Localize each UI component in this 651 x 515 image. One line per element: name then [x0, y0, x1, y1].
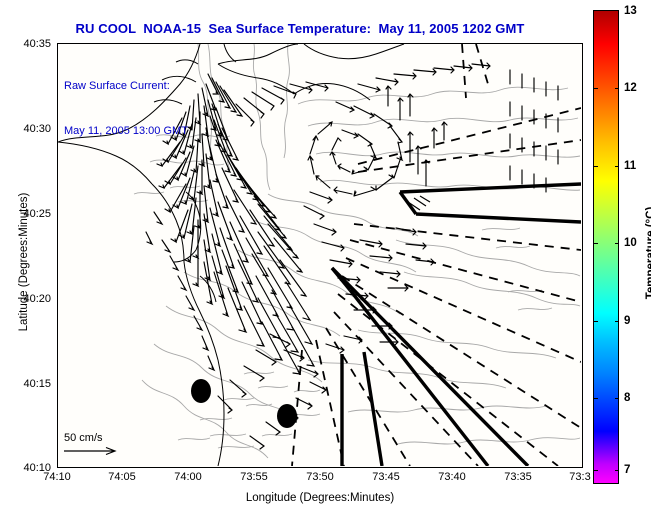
cbar-tick-10: 10 — [624, 237, 637, 249]
colorbar-label: Temperature (°C) — [645, 173, 651, 333]
cbar-tickmark-left-12 — [594, 88, 598, 89]
ytick-1: 40:30 — [6, 123, 51, 135]
station-markers[interactable] — [191, 379, 297, 428]
annotation-line-2: May 11, 2005 13:00 GMT — [64, 124, 188, 139]
ytick-4: 40:15 — [6, 378, 51, 390]
x-axis-label: Longitude (Degrees:Minutes) — [57, 492, 583, 504]
cbar-tickmark-9 — [615, 321, 619, 322]
xtick-1: 74:05 — [108, 471, 136, 483]
xtick-7: 73:35 — [504, 471, 532, 483]
cbar-tickmark-12 — [615, 88, 619, 89]
xtick-8: 73:3 — [569, 471, 590, 483]
cbar-tick-7: 7 — [624, 464, 630, 476]
xtick-3: 73:55 — [240, 471, 268, 483]
ytick-5: 40:10 — [6, 462, 51, 474]
cbar-tick-13: 13 — [624, 5, 637, 17]
sst-current-figure: RU COOL NOAA-15 Sea Surface Temperature:… — [0, 0, 651, 515]
cbar-tickmark-left-8 — [594, 398, 598, 399]
cbar-tick-11: 11 — [624, 160, 636, 172]
cbar-tick-12: 12 — [624, 82, 637, 94]
vector-scale-label: 50 cm/s — [64, 432, 124, 444]
temperature-colorbar[interactable] — [593, 10, 619, 484]
figure-title: RU COOL NOAA-15 Sea Surface Temperature:… — [0, 21, 600, 36]
radar-sector-inner-ticks — [340, 196, 430, 288]
cbar-tick-8: 8 — [624, 392, 630, 404]
radar-beam-sectors — [332, 184, 581, 466]
xtick-6: 73:40 — [438, 471, 466, 483]
cbar-tickmark-10 — [615, 243, 619, 244]
vector-scale-legend: 50 cm/s — [62, 432, 124, 461]
xtick-4: 73:50 — [306, 471, 334, 483]
annotation-line-1: Raw Surface Current: — [64, 79, 188, 94]
y-axis-label: Latitude (Degrees:Minutes) — [18, 152, 30, 372]
right-arrow-icon — [62, 444, 124, 458]
cbar-tickmark-11 — [615, 166, 619, 167]
xtick-2: 74:00 — [174, 471, 202, 483]
cbar-tickmark-7 — [615, 470, 619, 471]
cbar-tickmark-left-11 — [594, 166, 598, 167]
ytick-0: 40:35 — [6, 38, 51, 50]
current-annotation: Raw Surface Current: May 11, 2005 13:00 … — [64, 49, 188, 169]
cbar-tickmark-left-10 — [594, 243, 598, 244]
cbar-tickmark-8 — [615, 398, 619, 399]
cbar-tickmark-left-7 — [594, 470, 598, 471]
cbar-tickmark-left-9 — [594, 321, 598, 322]
xtick-5: 73:45 — [372, 471, 400, 483]
cbar-tick-9: 9 — [624, 315, 630, 327]
